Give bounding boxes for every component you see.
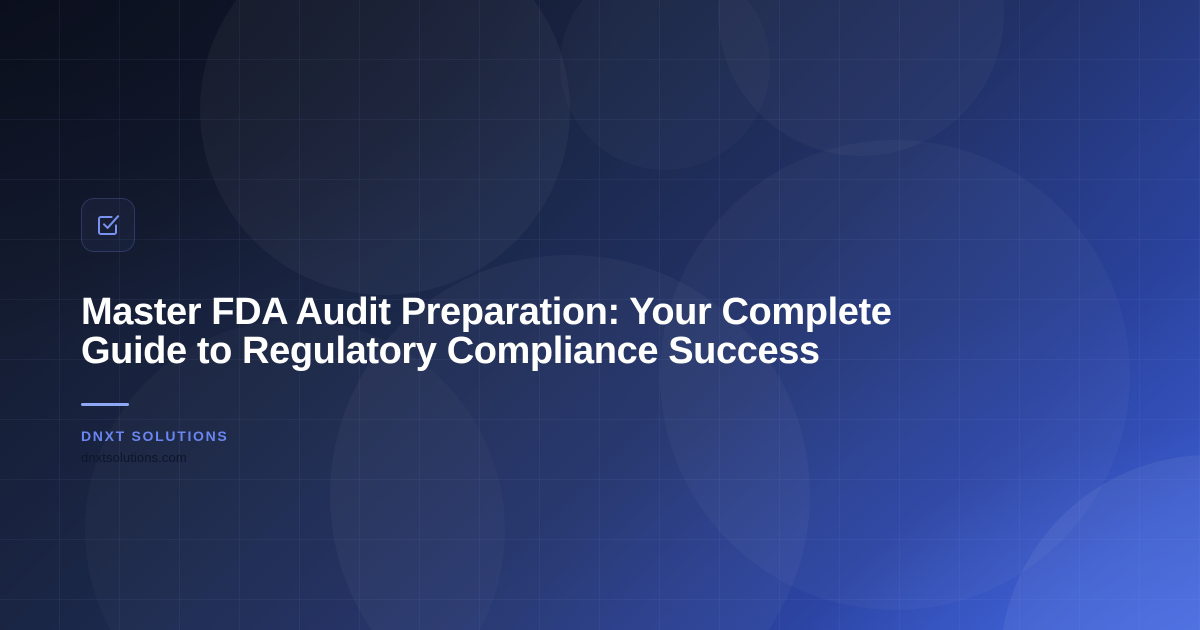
check-square-icon [95, 212, 121, 238]
card-content: Master FDA Audit Preparation: Your Compl… [81, 198, 941, 465]
decorative-circle [718, 0, 1004, 156]
check-square-icon-badge [81, 198, 135, 252]
accent-divider [81, 403, 129, 406]
page-title: Master FDA Audit Preparation: Your Compl… [81, 293, 911, 371]
decorative-circle [560, 0, 770, 170]
decorative-circle [1000, 455, 1200, 630]
og-social-card: Master FDA Audit Preparation: Your Compl… [0, 0, 1200, 630]
brand-url: dnxtsolutions.com [81, 450, 941, 465]
brand-name: DNXT SOLUTIONS [81, 428, 941, 444]
